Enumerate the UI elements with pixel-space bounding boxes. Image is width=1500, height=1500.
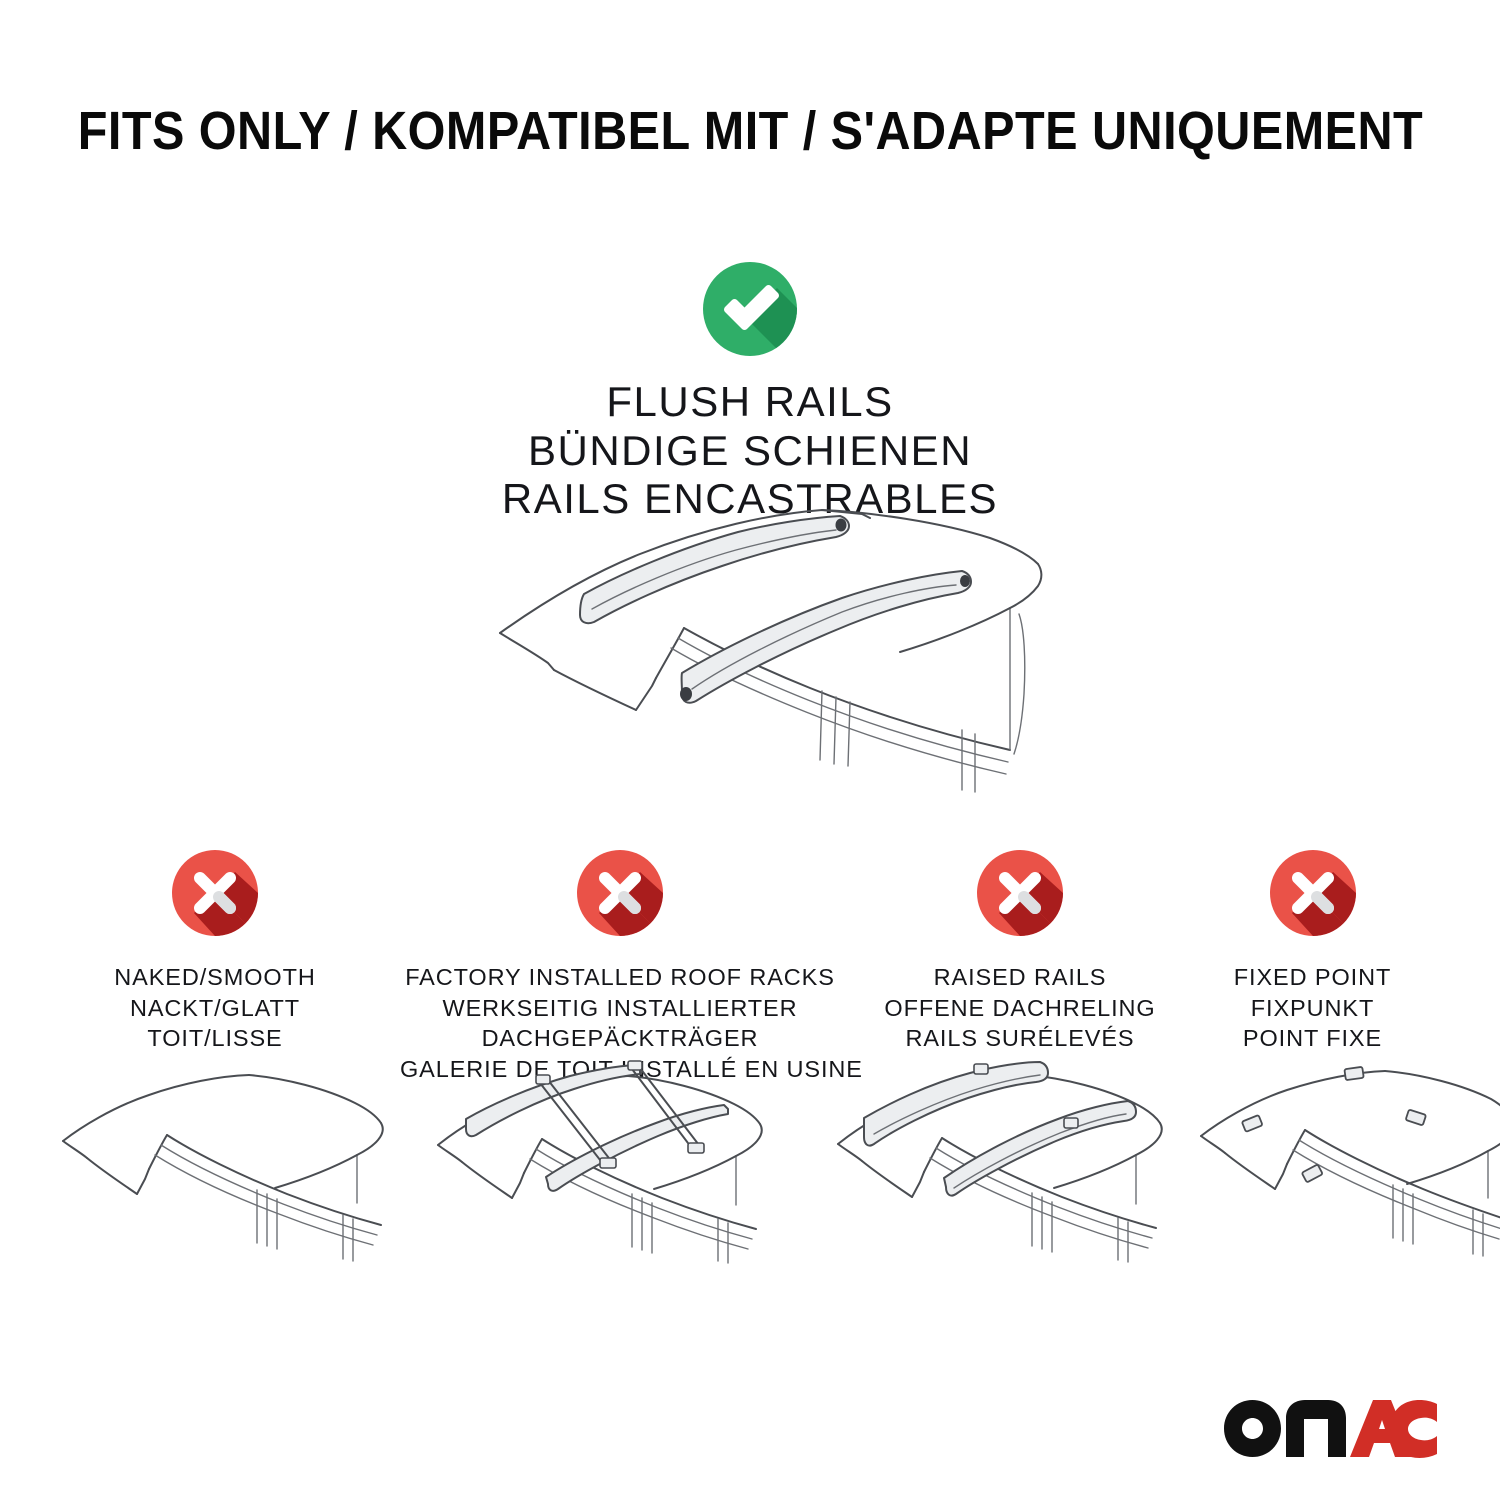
- incompatible-label-fr: RAILS SURÉLEVÉS: [845, 1023, 1195, 1054]
- logo-letter-o: [1224, 1400, 1281, 1457]
- car-roof-fixed-point-drawing: [1185, 1060, 1500, 1260]
- incompatible-column-factory-roof-racks: FACTORY INSTALLED ROOF RACKS WERKSEITIG …: [400, 850, 840, 1084]
- incompatible-label-en: NAKED/SMOOTH: [40, 962, 390, 993]
- incompatible-labels: FIXED POINT FIXPUNKT POINT FIXE: [1150, 962, 1475, 1054]
- x-circle-icon: [577, 850, 663, 936]
- incompatible-label-en: FACTORY INSTALLED ROOF RACKS: [400, 962, 840, 993]
- omac-logo: [1222, 1398, 1437, 1466]
- car-roof-naked-smooth-drawing: [45, 1063, 385, 1263]
- omac-logo-mark: [1222, 1398, 1437, 1466]
- incompatible-labels: RAISED RAILS OFFENE DACHRELING RAILS SUR…: [845, 962, 1195, 1054]
- check-mark-glyph: [703, 262, 797, 356]
- incompatible-labels: NAKED/SMOOTH NACKT/GLATT TOIT/LISSE: [40, 962, 390, 1054]
- compatible-label-de: BÜNDIGE SCHIENEN: [0, 427, 1500, 476]
- incompatible-column-fixed-point: FIXED POINT FIXPUNKT POINT FIXE: [1150, 850, 1475, 1054]
- x-circle-icon: [172, 850, 258, 936]
- incompatible-label-fr: TOIT/LISSE: [40, 1023, 390, 1054]
- x-mark-glyph: [1270, 850, 1356, 936]
- x-circle-icon: [1270, 850, 1356, 936]
- incompatible-label-de: NACKT/GLATT: [40, 993, 390, 1024]
- logo-letter-m: [1286, 1400, 1346, 1457]
- incompatible-label-en: RAISED RAILS: [845, 962, 1195, 993]
- car-roof-flush-rails-drawing: [470, 498, 1050, 798]
- incompatible-label-de-1: WERKSEITIG INSTALLIERTER: [400, 993, 840, 1024]
- x-mark-glyph: [977, 850, 1063, 936]
- incompatible-label-de: FIXPUNKT: [1150, 993, 1475, 1024]
- incompatible-label-de-2: DACHGEPÄCKTRÄGER: [400, 1023, 840, 1054]
- page-title-text: FITS ONLY / KOMPATIBEL MIT / S'ADAPTE UN…: [77, 103, 1422, 160]
- check-circle-icon: [703, 262, 797, 356]
- x-mark-glyph: [172, 850, 258, 936]
- car-roof-naked-smooth-illustration: [45, 1063, 385, 1263]
- incompatible-label-fr: POINT FIXE: [1150, 1023, 1475, 1054]
- incompatible-column-raised-rails: RAISED RAILS OFFENE DACHRELING RAILS SUR…: [845, 850, 1195, 1054]
- compatible-label-en: FLUSH RAILS: [0, 378, 1500, 427]
- car-roof-factory-roof-racks-illustration: [418, 1055, 768, 1255]
- car-roof-raised-rails-drawing: [818, 1058, 1168, 1263]
- car-roof-flush-rails-illustration: [470, 498, 1050, 798]
- incompatible-label-de: OFFENE DACHRELING: [845, 993, 1195, 1024]
- incompatible-column-naked-smooth: NAKED/SMOOTH NACKT/GLATT TOIT/LISSE: [40, 850, 390, 1054]
- x-mark-glyph: [577, 850, 663, 936]
- compatible-section: FLUSH RAILS BÜNDIGE SCHIENEN RAILS ENCAS…: [0, 262, 1500, 524]
- car-roof-raised-rails-illustration: [818, 1058, 1168, 1258]
- car-roof-fixed-point-illustration: [1185, 1060, 1500, 1260]
- x-circle-icon: [977, 850, 1063, 936]
- incompatible-label-en: FIXED POINT: [1150, 962, 1475, 993]
- car-roof-factory-roof-racks-drawing: [418, 1055, 768, 1265]
- page-title: FITS ONLY / KOMPATIBEL MIT / S'ADAPTE UN…: [0, 103, 1500, 160]
